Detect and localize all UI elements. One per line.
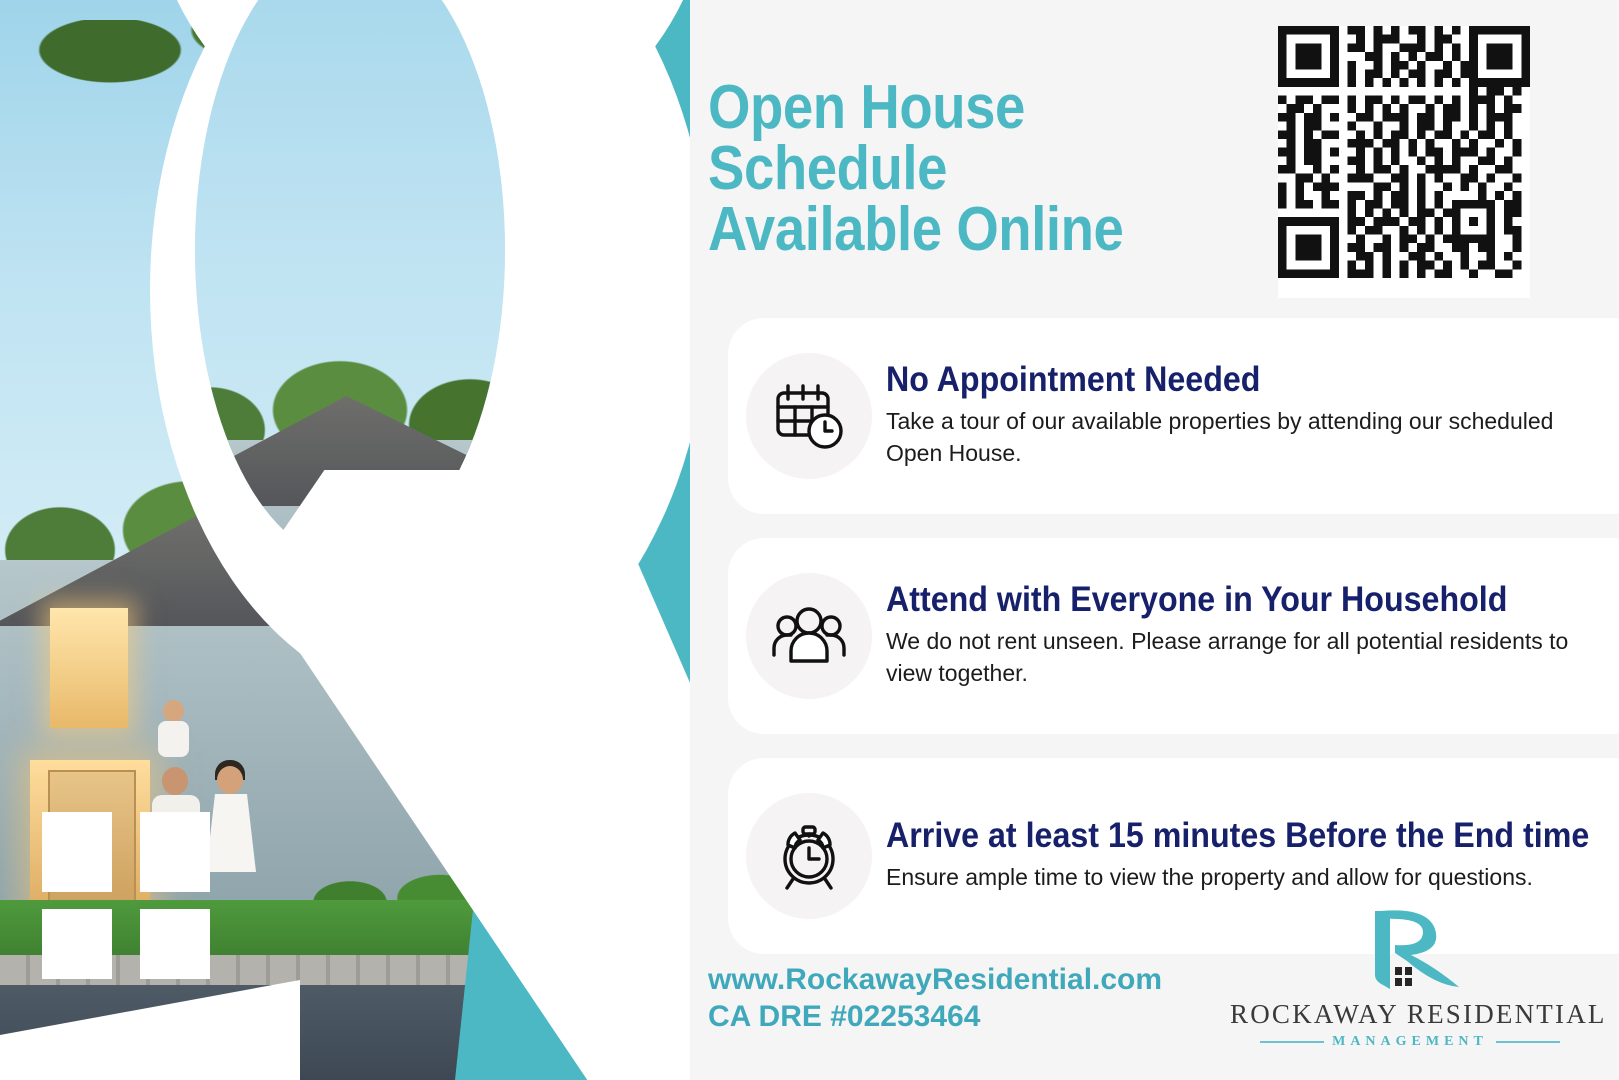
info-card-body: Ensure ample time to view the property a… bbox=[886, 861, 1586, 894]
info-card-title: No Appointment Needed bbox=[886, 362, 1561, 399]
poster-canvas: Open House Schedule Available Online bbox=[0, 0, 1619, 1080]
person-child bbox=[152, 700, 194, 758]
headline-line-2: Available Online bbox=[708, 200, 1236, 261]
logo-grid-mark bbox=[42, 812, 212, 987]
page-title: Open House Schedule Available Online bbox=[708, 78, 1236, 260]
info-card-title: Arrive at least 15 minutes Before the En… bbox=[886, 818, 1589, 855]
logo-r-mark-icon bbox=[1230, 905, 1590, 997]
info-card-no-appointment: No Appointment Needed Take a tour of our… bbox=[728, 318, 1619, 514]
person-adult-female bbox=[204, 752, 258, 880]
people-group-icon bbox=[746, 573, 872, 699]
website-link[interactable]: www.RockawayResidential.com bbox=[708, 963, 1162, 997]
window-1 bbox=[50, 608, 128, 728]
headline-line-1: Open House Schedule bbox=[708, 78, 1236, 200]
alarm-clock-icon bbox=[746, 793, 872, 919]
logo-rule-right bbox=[1496, 1041, 1560, 1043]
logo-rule-left bbox=[1260, 1041, 1324, 1043]
logo-subtitle: MANAGEMENT bbox=[1332, 1034, 1488, 1050]
calendar-clock-icon bbox=[746, 353, 872, 479]
info-card-list: No Appointment Needed Take a tour of our… bbox=[728, 318, 1619, 978]
info-card-title: Attend with Everyone in Your Household bbox=[886, 582, 1561, 619]
info-card-text: No Appointment Needed Take a tour of our… bbox=[872, 362, 1619, 470]
qr-code-svg bbox=[1278, 26, 1530, 278]
logo-subtitle-row: MANAGEMENT bbox=[1230, 1034, 1590, 1050]
logo-company-name: ROCKAWAY RESIDENTIAL bbox=[1230, 999, 1590, 1030]
left-visual-panel bbox=[0, 0, 690, 1080]
info-card-household: Attend with Everyone in Your Household W… bbox=[728, 538, 1619, 734]
logo-r-svg bbox=[1335, 905, 1485, 997]
right-content-panel: Open House Schedule Available Online bbox=[690, 0, 1619, 1080]
info-card-text: Arrive at least 15 minutes Before the En… bbox=[872, 818, 1619, 893]
info-card-text: Attend with Everyone in Your Household W… bbox=[872, 582, 1619, 690]
info-card-body: Take a tour of our available properties … bbox=[886, 405, 1586, 470]
license-number: CA DRE #02253464 bbox=[708, 1000, 980, 1034]
qr-code-icon[interactable] bbox=[1278, 26, 1530, 298]
info-card-body: We do not rent unseen. Please arrange fo… bbox=[886, 625, 1586, 690]
company-logo: ROCKAWAY RESIDENTIAL MANAGEMENT bbox=[1230, 905, 1590, 1050]
